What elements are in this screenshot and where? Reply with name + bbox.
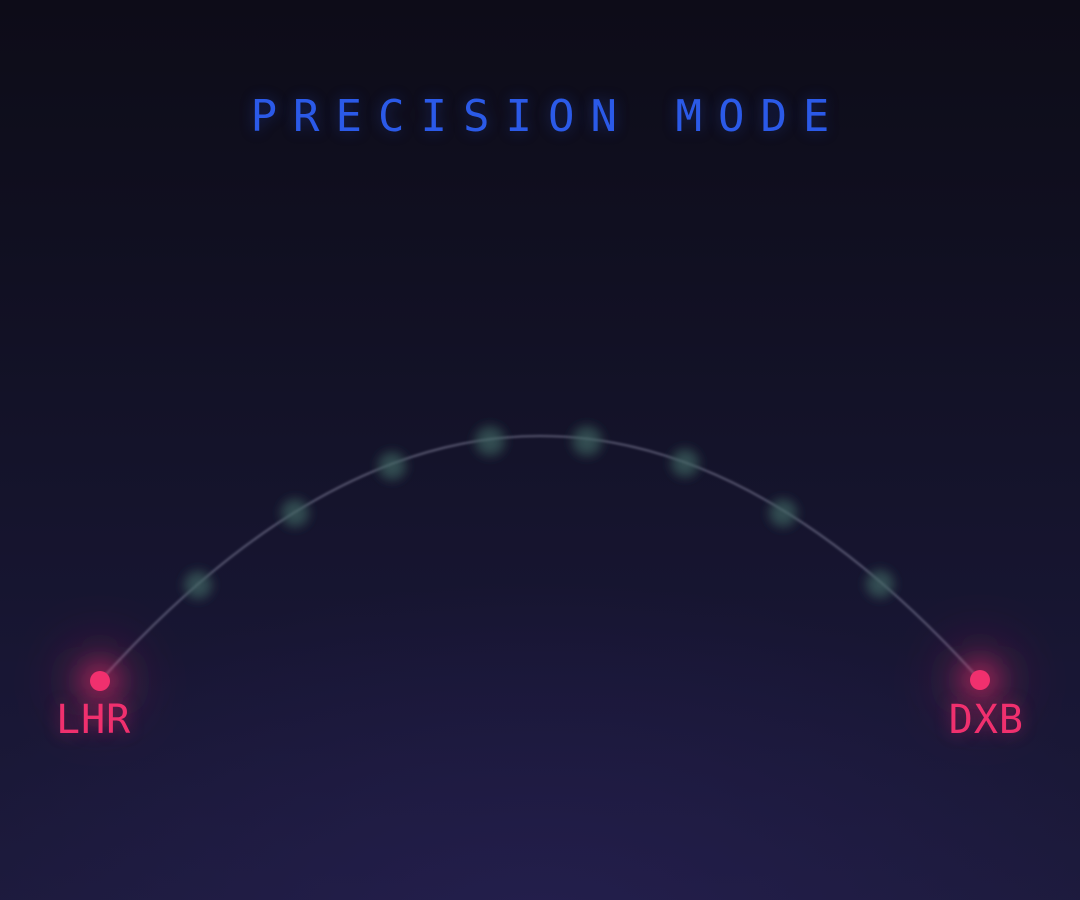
route-map (0, 0, 1080, 900)
destination-label: DXB (949, 700, 1024, 740)
waypoint-node-2[interactable] (278, 496, 312, 530)
waypoint-group (181, 423, 897, 602)
route-arc (100, 436, 980, 681)
waypoint-node-3[interactable] (375, 449, 409, 483)
origin-label: LHR (56, 700, 131, 740)
waypoint-node-1[interactable] (181, 568, 215, 602)
waypoint-node-7[interactable] (766, 496, 800, 530)
precision-mode-canvas: PRECISION MODE (0, 0, 1080, 900)
endpoint-group (64, 644, 1016, 717)
waypoint-node-6[interactable] (668, 446, 702, 480)
waypoint-node-5[interactable] (569, 423, 605, 459)
origin-node[interactable] (90, 671, 110, 691)
waypoint-node-8[interactable] (863, 567, 897, 601)
route-arc-group (100, 436, 980, 681)
destination-node[interactable] (970, 670, 990, 690)
waypoint-node-4[interactable] (472, 423, 508, 459)
